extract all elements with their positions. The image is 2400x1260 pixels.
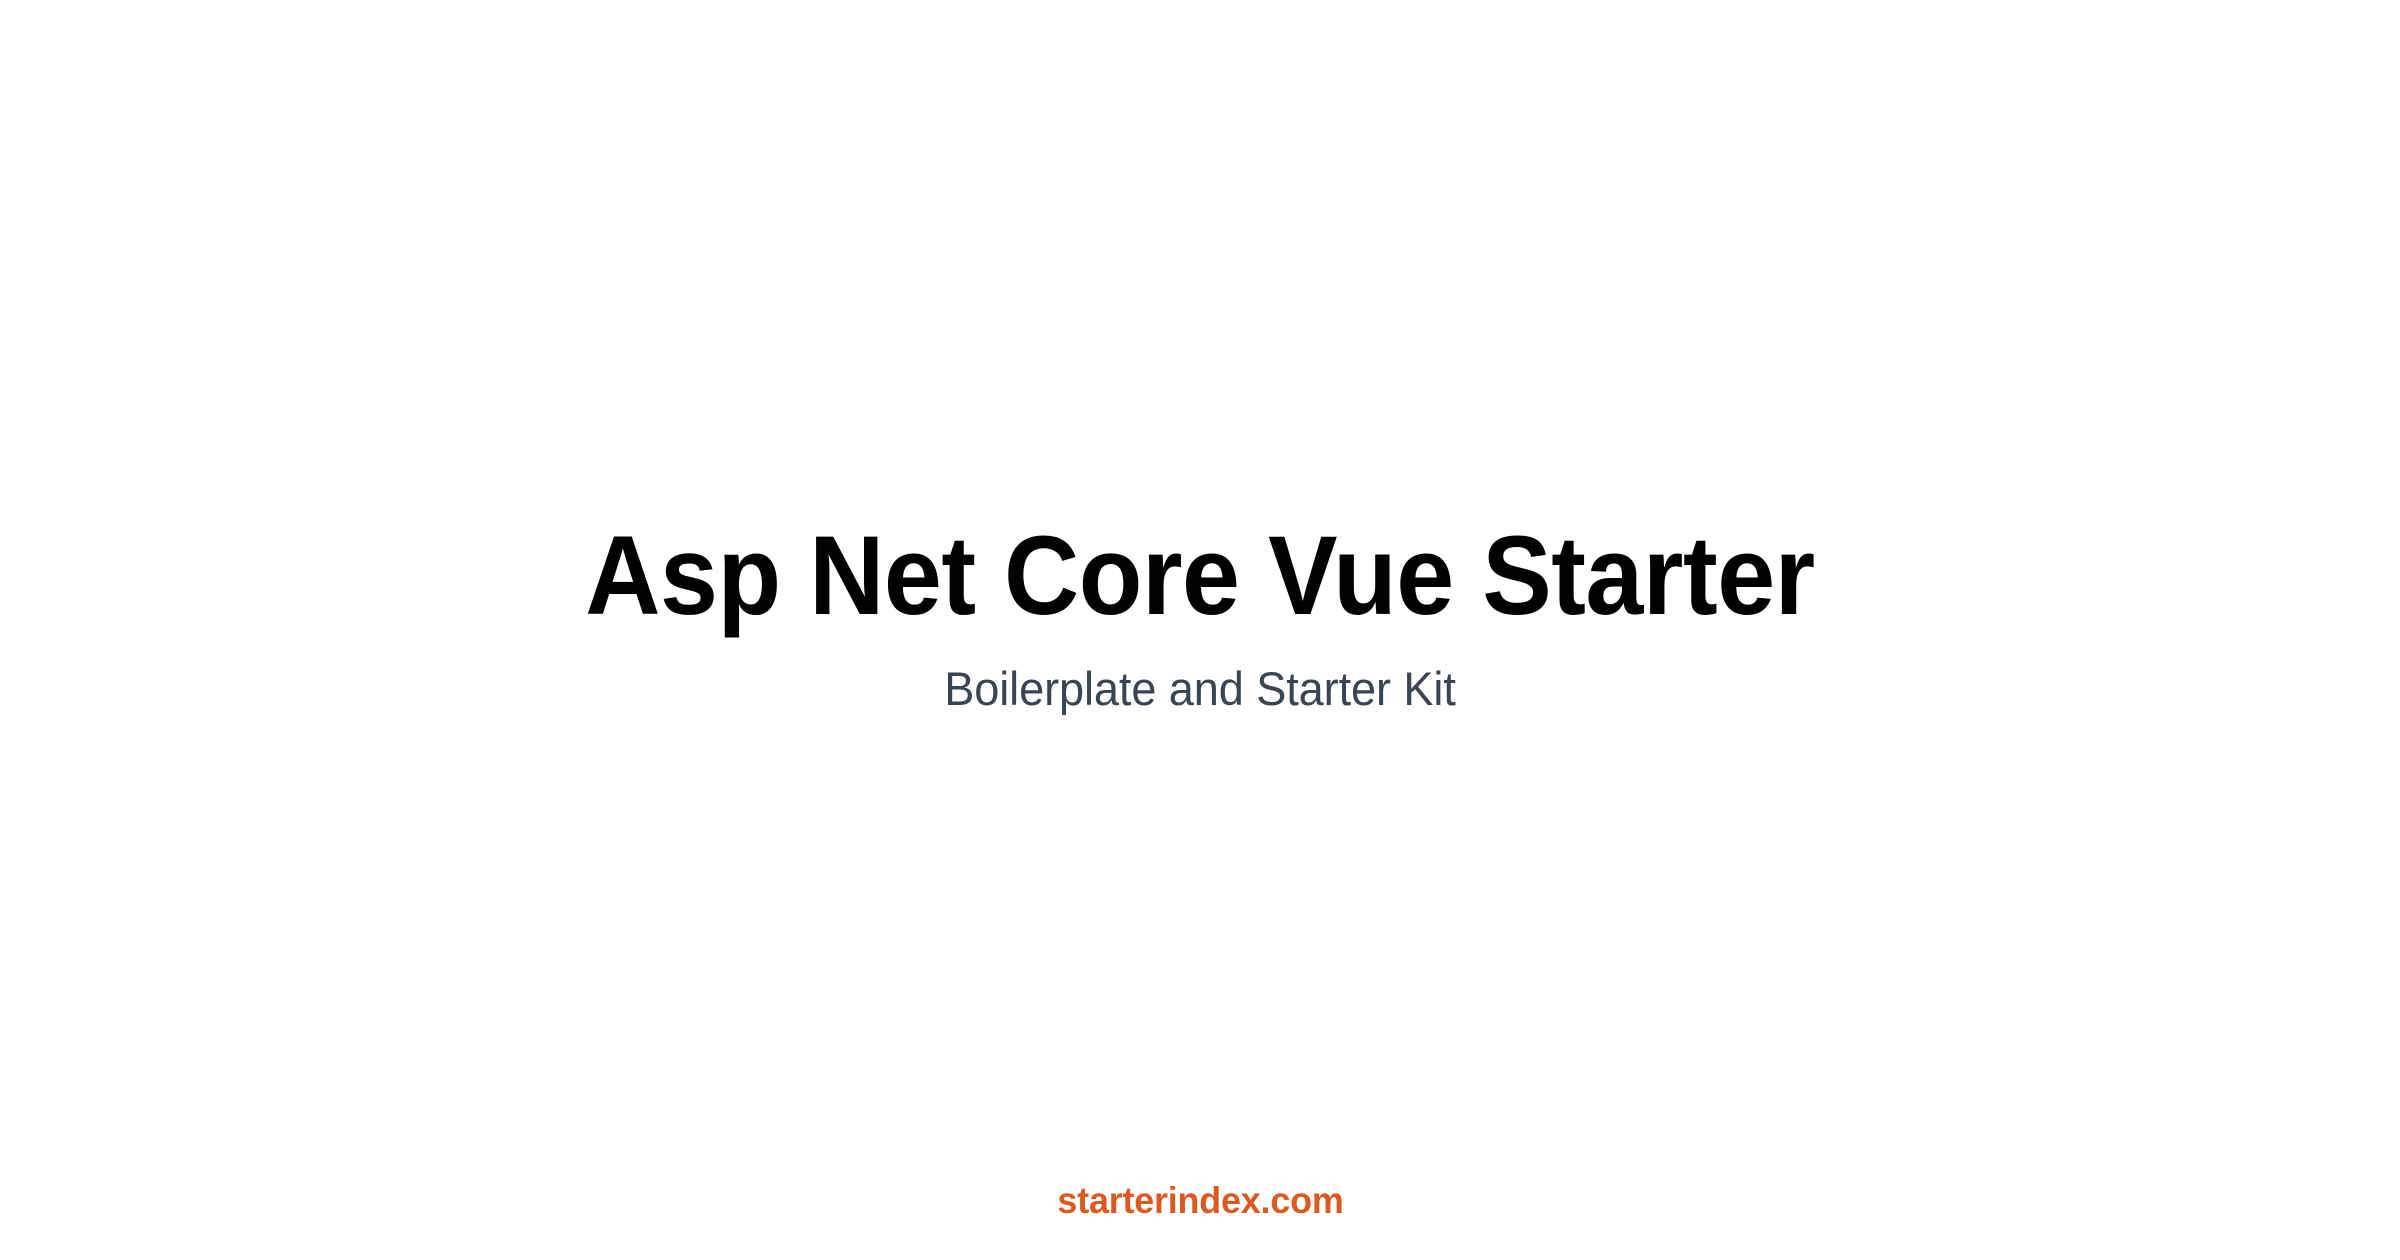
footer-site-link[interactable]: starterindex.com [1057,1182,1343,1219]
footer: starterindex.com [0,1140,2400,1260]
page-title: Asp Net Core Vue Starter [84,520,2316,632]
slide-canvas: Asp Net Core Vue Starter Boilerplate and… [0,0,2400,1260]
page-subtitle: Boilerplate and Starter Kit [48,662,2352,716]
hero-section: Asp Net Core Vue Starter Boilerplate and… [0,0,2400,1260]
hero-text-block: Asp Net Core Vue Starter Boilerplate and… [0,520,2400,716]
